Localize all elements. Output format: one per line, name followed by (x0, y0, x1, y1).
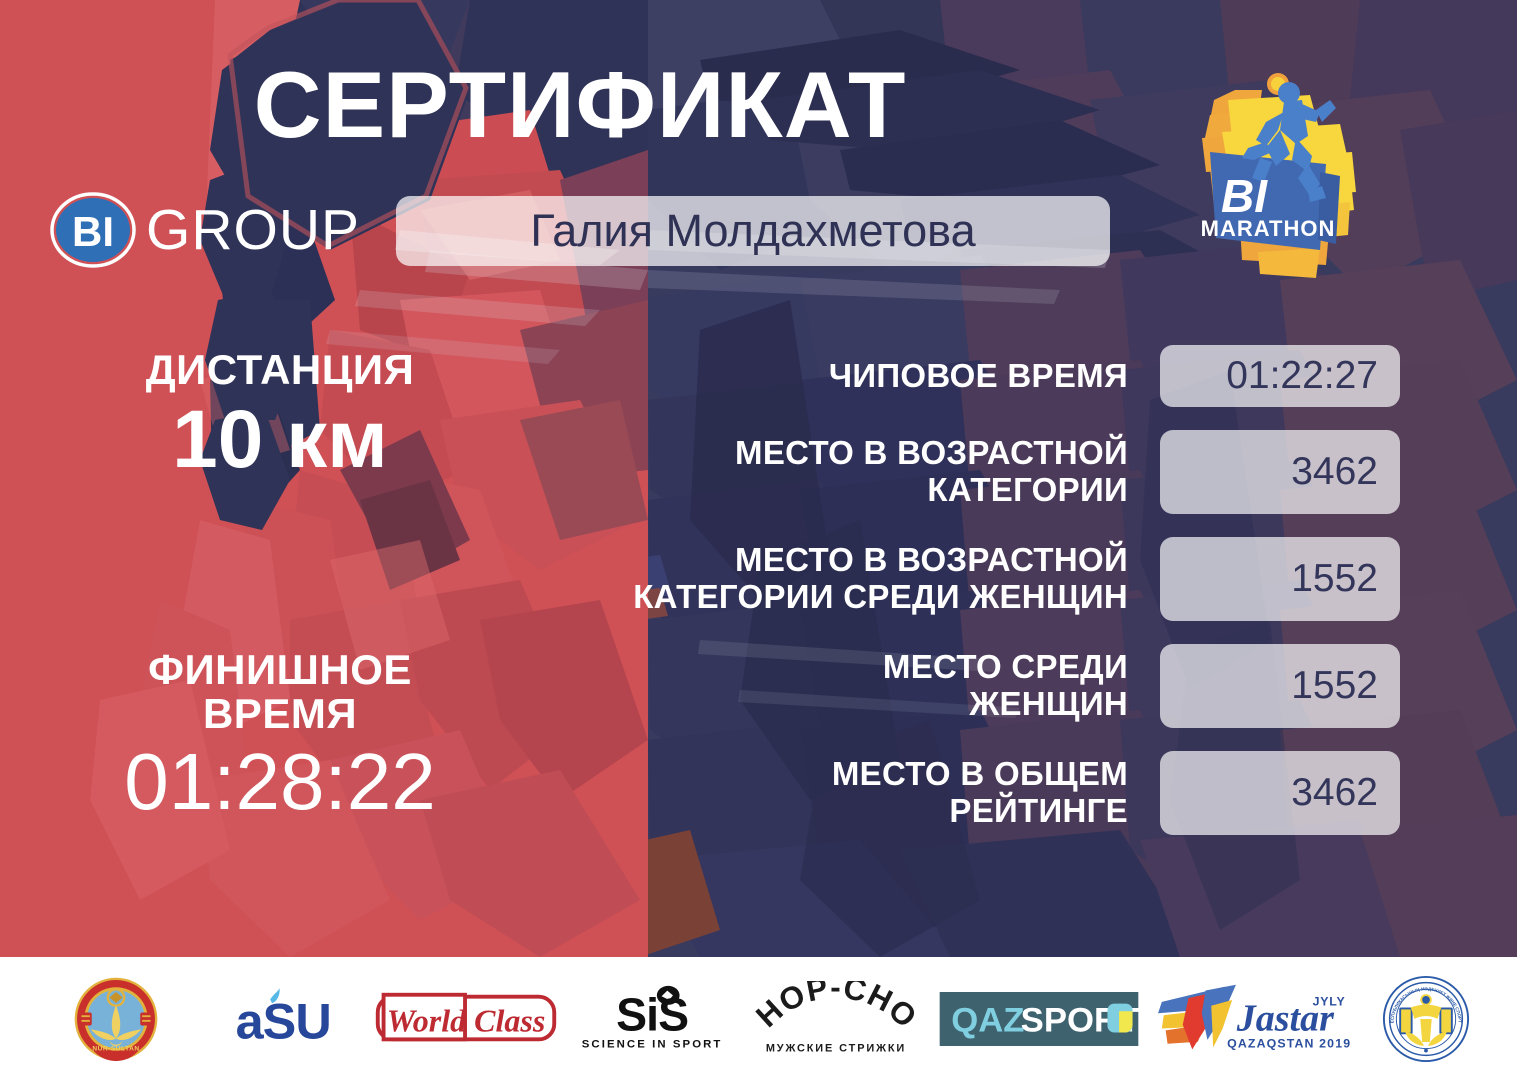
distance-value: 10 км (20, 396, 540, 485)
stat-label: МЕСТО В ВОЗРАСТНОЙ КАТЕГОРИИ (470, 435, 1160, 509)
marathon-logo-bi: BI (1221, 170, 1268, 222)
world-class-logo-icon: World Class (373, 987, 559, 1051)
finish-time-label: ФИНИШНОЕ ВРЕМЯ (20, 648, 540, 735)
chop-chop-logo-icon: CHOP-CHOP МУЖСКИЕ СТРИЖКИ (750, 981, 922, 1057)
bi-group-mark-text: BI (72, 208, 114, 255)
sponsor-bar: NUR-SULTAN aSU World Class SiS SC (0, 957, 1517, 1080)
jastar-subtitle: QAZAQSTAN 2019 (1227, 1036, 1351, 1050)
sis-wordmark: SiS (616, 988, 688, 1040)
qazsport-part1: QAZ (951, 1001, 1024, 1039)
stat-label: МЕСТО В ВОЗРАСТНОЙ КАТЕГОРИИ СРЕДИ ЖЕНЩИ… (470, 542, 1160, 616)
sponsor-world-class: World Class (366, 971, 566, 1067)
distance-label: ДИСТАНЦИЯ (20, 348, 540, 392)
participant-name: Галия Молдахметова (396, 196, 1110, 266)
sponsor-sis: SiS SCIENCE IN SPORT (566, 971, 741, 1067)
stat-value: 1552 (1160, 644, 1400, 728)
finish-time-value: 01:28:22 (20, 739, 540, 825)
stat-row: МЕСТО СРЕДИ ЖЕНЩИН 1552 (470, 644, 1400, 728)
sponsor-nur-sultan: NUR-SULTAN (26, 971, 206, 1067)
bi-group-mark-icon: BI (50, 192, 136, 268)
asu-wordmark: aSU (236, 992, 331, 1049)
marathon-logo-marathon: MARATHON (1201, 216, 1336, 241)
jastar-suffix: JYLY (1312, 994, 1345, 1008)
asu-logo-icon: aSU (216, 986, 356, 1052)
sponsor-jastar-jyly: Jastar JYLY QAZAQSTAN 2019 (1146, 971, 1361, 1067)
stat-row: МЕСТО В ВОЗРАСТНОЙ КАТЕГОРИИ СРЕДИ ЖЕНЩИ… (470, 537, 1400, 621)
bi-group-logo: BI GROUP (50, 192, 360, 268)
stat-value: 01:22:27 (1160, 345, 1400, 407)
stats-list: ЧИПОВОЕ ВРЕМЯ 01:22:27 МЕСТО В ВОЗРАСТНО… (470, 345, 1400, 858)
bi-group-wordmark: GROUP (146, 202, 360, 259)
sis-logo-icon: SiS SCIENCE IN SPORT (578, 983, 730, 1055)
finish-time-block: ФИНИШНОЕ ВРЕМЯ 01:28:22 (20, 648, 540, 826)
bi-marathon-logo: BI MARATHON (1180, 60, 1380, 290)
distance-block: ДИСТАНЦИЯ 10 км (20, 348, 540, 484)
certificate: СЕРТИФИКАТ Галия Молдахметова BI GROUP (0, 0, 1517, 1080)
nur-sultan-label: NUR-SULTAN (92, 1045, 139, 1052)
jastar-jyly-logo-icon: Jastar JYLY QAZAQSTAN 2019 (1152, 981, 1356, 1057)
stat-value: 1552 (1160, 537, 1400, 621)
chop-chop-wordmark: CHOP-CHOP (750, 981, 922, 1035)
stat-label: МЕСТО В ОБЩЕМ РЕЙТИНГЕ (470, 756, 1160, 830)
nur-sultan-emblem-icon: NUR-SULTAN (74, 977, 158, 1061)
stat-row: ЧИПОВОЕ ВРЕМЯ 01:22:27 (470, 345, 1400, 407)
stat-value: 3462 (1160, 751, 1400, 835)
sponsor-qazsport: QAZ SPORT (931, 971, 1146, 1067)
sponsor-chop-chop: CHOP-CHOP МУЖСКИЕ СТРИЖКИ (741, 971, 931, 1067)
qazsport-logo-icon: QAZ SPORT (939, 992, 1139, 1046)
sis-tagline: SCIENCE IN SPORT (581, 1038, 722, 1050)
stat-label: МЕСТО СРЕДИ ЖЕНЩИН (470, 649, 1160, 723)
stat-row: МЕСТО В ОБЩЕМ РЕЙТИНГЕ 3462 (470, 751, 1400, 835)
stat-row: МЕСТО В ВОЗРАСТНОЙ КАТЕГОРИИ 3462 (470, 430, 1400, 514)
sponsor-ministry: ҚАЗАҚСТАН РЕСПУБЛИКАСЫНЫҢ МӘДЕНИЕТ ЖӘНЕ … (1361, 971, 1491, 1067)
ministry-emblem-icon: ҚАЗАҚСТАН РЕСПУБЛИКАСЫНЫҢ МӘДЕНИЕТ ЖӘНЕ … (1382, 975, 1470, 1063)
world-class-wordmark: World Class (387, 1002, 546, 1038)
sponsor-asu: aSU (206, 971, 366, 1067)
certificate-title: СЕРТИФИКАТ (0, 58, 1160, 152)
stat-value: 3462 (1160, 430, 1400, 514)
stat-label: ЧИПОВОЕ ВРЕМЯ (470, 358, 1160, 395)
chop-chop-tagline: МУЖСКИЕ СТРИЖКИ (766, 1042, 906, 1054)
